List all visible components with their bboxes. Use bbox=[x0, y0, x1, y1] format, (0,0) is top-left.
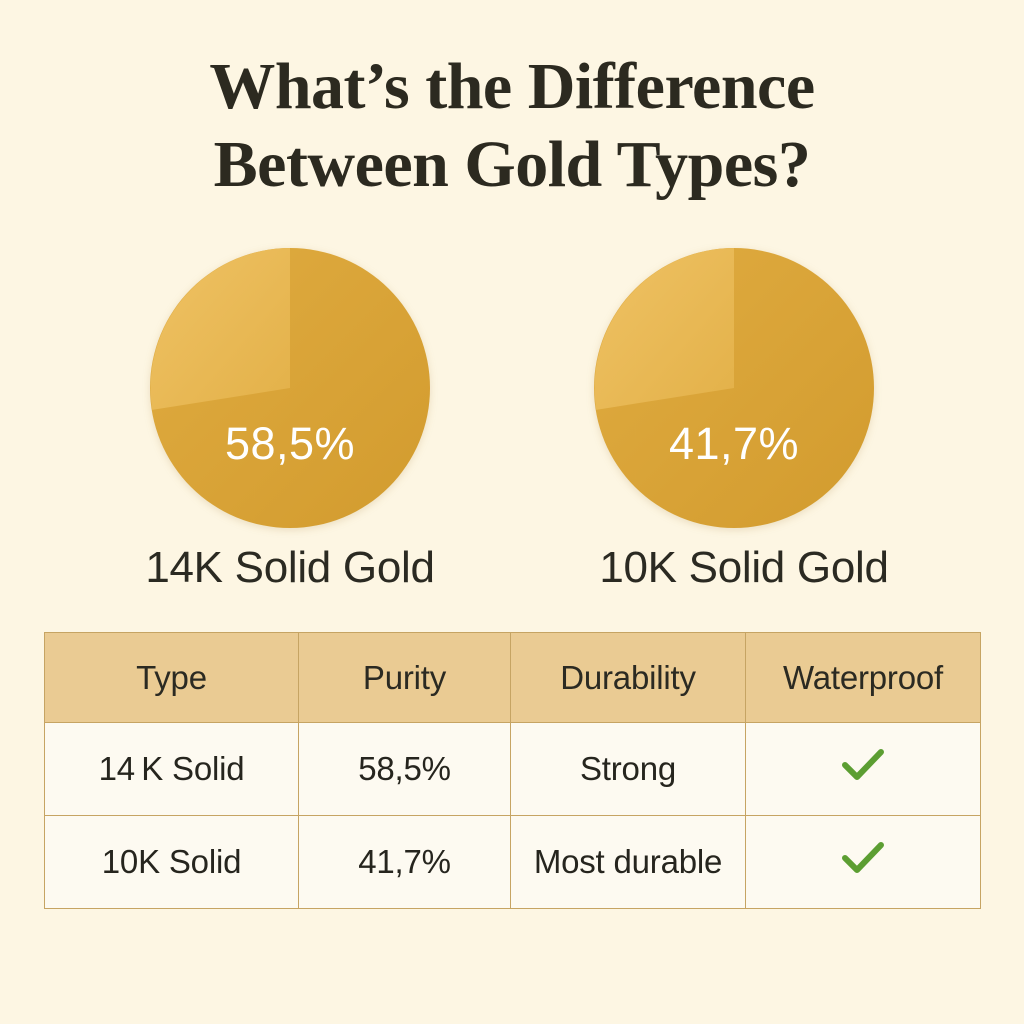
gold-comparison-table: Type Purity Durability Waterproof 14 K S… bbox=[44, 632, 981, 909]
check-icon bbox=[841, 748, 885, 782]
table-row: 14 K Solid 58,5% Strong bbox=[45, 723, 981, 816]
table-header-waterproof: Waterproof bbox=[746, 633, 981, 723]
pie-caption-row: 14K Solid Gold 10K Solid Gold bbox=[0, 543, 1024, 603]
pie-chart-10k: 41,7% bbox=[584, 248, 884, 548]
pie-caption-10k: 10K Solid Gold bbox=[524, 543, 964, 593]
cell-type: 10K Solid bbox=[45, 816, 299, 909]
table-header-row: Type Purity Durability Waterproof bbox=[45, 633, 981, 723]
table-header-durability: Durability bbox=[511, 633, 746, 723]
cell-purity: 58,5% bbox=[299, 723, 511, 816]
pie-caption-14k: 14K Solid Gold bbox=[70, 543, 510, 593]
pie-chart-row: 58,5% 41,7% bbox=[0, 248, 1024, 548]
cell-type: 14 K Solid bbox=[45, 723, 299, 816]
cell-purity: 41,7% bbox=[299, 816, 511, 909]
cell-durability: Most durable bbox=[511, 816, 746, 909]
table-header-type: Type bbox=[45, 633, 299, 723]
table-row: 10K Solid 41,7% Most durable bbox=[45, 816, 981, 909]
pie-chart-14k: 58,5% bbox=[140, 248, 440, 548]
cell-durability: Strong bbox=[511, 723, 746, 816]
pie-chart-14k-graphic bbox=[150, 248, 430, 528]
page-title: What’s the Difference Between Gold Types… bbox=[0, 48, 1024, 204]
table-header-purity: Purity bbox=[299, 633, 511, 723]
pie-slice-alloy-14k bbox=[151, 248, 290, 410]
cell-waterproof bbox=[746, 723, 981, 816]
page-title-line-1: What’s the Difference bbox=[0, 48, 1024, 126]
check-icon bbox=[841, 841, 885, 875]
pie-slice-alloy-10k bbox=[595, 248, 734, 410]
page-title-line-2: Between Gold Types? bbox=[0, 126, 1024, 204]
cell-waterproof bbox=[746, 816, 981, 909]
pie-chart-10k-graphic bbox=[594, 248, 874, 528]
